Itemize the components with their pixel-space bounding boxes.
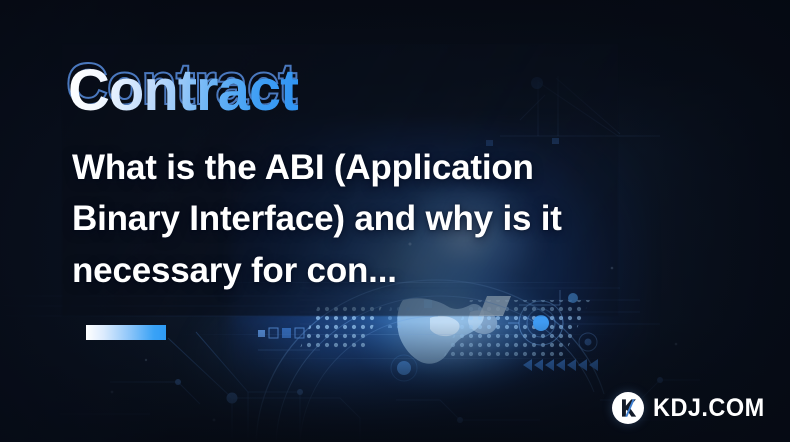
accent-bar [86,325,166,340]
banner-content: Contract Contract Contract What is the A… [0,0,790,442]
category-kicker: Contract Contract Contract [68,62,298,120]
logo-wordmark: KDJ.COM [653,396,765,421]
banner-canvas: Contract Contract Contract What is the A… [0,0,790,442]
site-logo[interactable]: KDJ.COM [612,392,772,424]
kicker-label: Contract [68,58,298,123]
kdj-k-mark-icon [612,392,644,424]
page-title: What is the ABI (Application Binary Inte… [72,142,632,296]
